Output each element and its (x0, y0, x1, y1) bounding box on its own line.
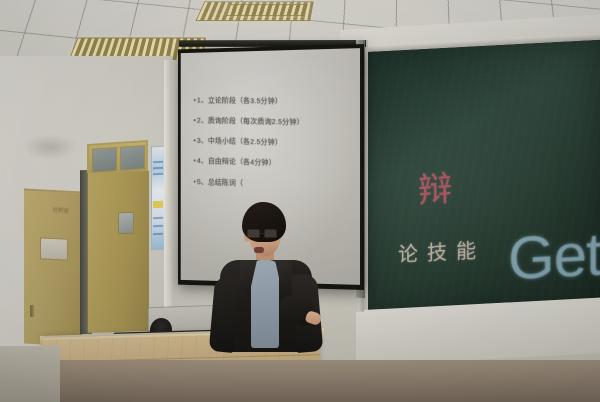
classroom-photo: 控制室 辩 论技能 Get •1、立论阶段（各3.5分钟） (0, 0, 600, 402)
presenter-shirt (251, 260, 279, 348)
bullet-glyph: • (193, 157, 196, 166)
door-vision-panel (118, 212, 134, 235)
slide-line-text: 1、立论阶段（各3.5分钟） (197, 96, 282, 106)
floor-left-corner (0, 346, 60, 402)
glasses-icon (247, 229, 281, 239)
bullet-glyph: • (193, 177, 196, 186)
bullet-glyph: • (193, 136, 196, 145)
chalk-text-subline: 论技能 (398, 234, 485, 268)
door-handle[interactable] (30, 305, 34, 317)
slide-bullet-item: •3、中场小结（各2.5分钟） (193, 137, 352, 149)
chalk-text-english-word: Get (508, 220, 600, 294)
transom-pane (92, 147, 117, 173)
slide-line-text: 5、总结陈词（ (197, 177, 243, 187)
glasses-lens-left (247, 229, 260, 238)
slide-line-text: 4、自由辩论（各4分钟） (197, 157, 276, 168)
transom-pane (120, 145, 145, 171)
presenter (218, 202, 314, 350)
slide-bullet-item: •4、自由辩论（各4分钟） (193, 157, 352, 169)
poster-accent-band (153, 201, 163, 209)
presenter-mouth (254, 247, 264, 253)
glasses-lens-right (264, 229, 277, 238)
slide-bullet-item: •1、立论阶段（各3.5分钟） (193, 97, 352, 107)
slide-bullet-item: •2、质询阶段（每次质询2.5分钟） (193, 117, 352, 128)
slide-bullet-list: •1、立论阶段（各3.5分钟） •2、质询阶段（每次质询2.5分钟） •3、中场… (193, 96, 352, 188)
wall-stain (22, 134, 78, 160)
door-room-sign: 控制室 (49, 206, 73, 215)
chalk-text-headline-red: 辩 (418, 161, 453, 212)
wall-notice-poster (151, 146, 165, 251)
bullet-glyph: • (193, 116, 196, 125)
floor (0, 360, 600, 402)
bullet-glyph: • (193, 96, 196, 105)
slide-line-text: 3、中场小结（各2.5分钟） (197, 136, 282, 147)
door-left-vision-panel (40, 237, 68, 260)
ceiling-light-panel (226, 4, 308, 16)
slide-line-text: 2、质询阶段（每次质询2.5分钟） (197, 116, 304, 127)
door-right-leaf[interactable] (87, 171, 149, 333)
